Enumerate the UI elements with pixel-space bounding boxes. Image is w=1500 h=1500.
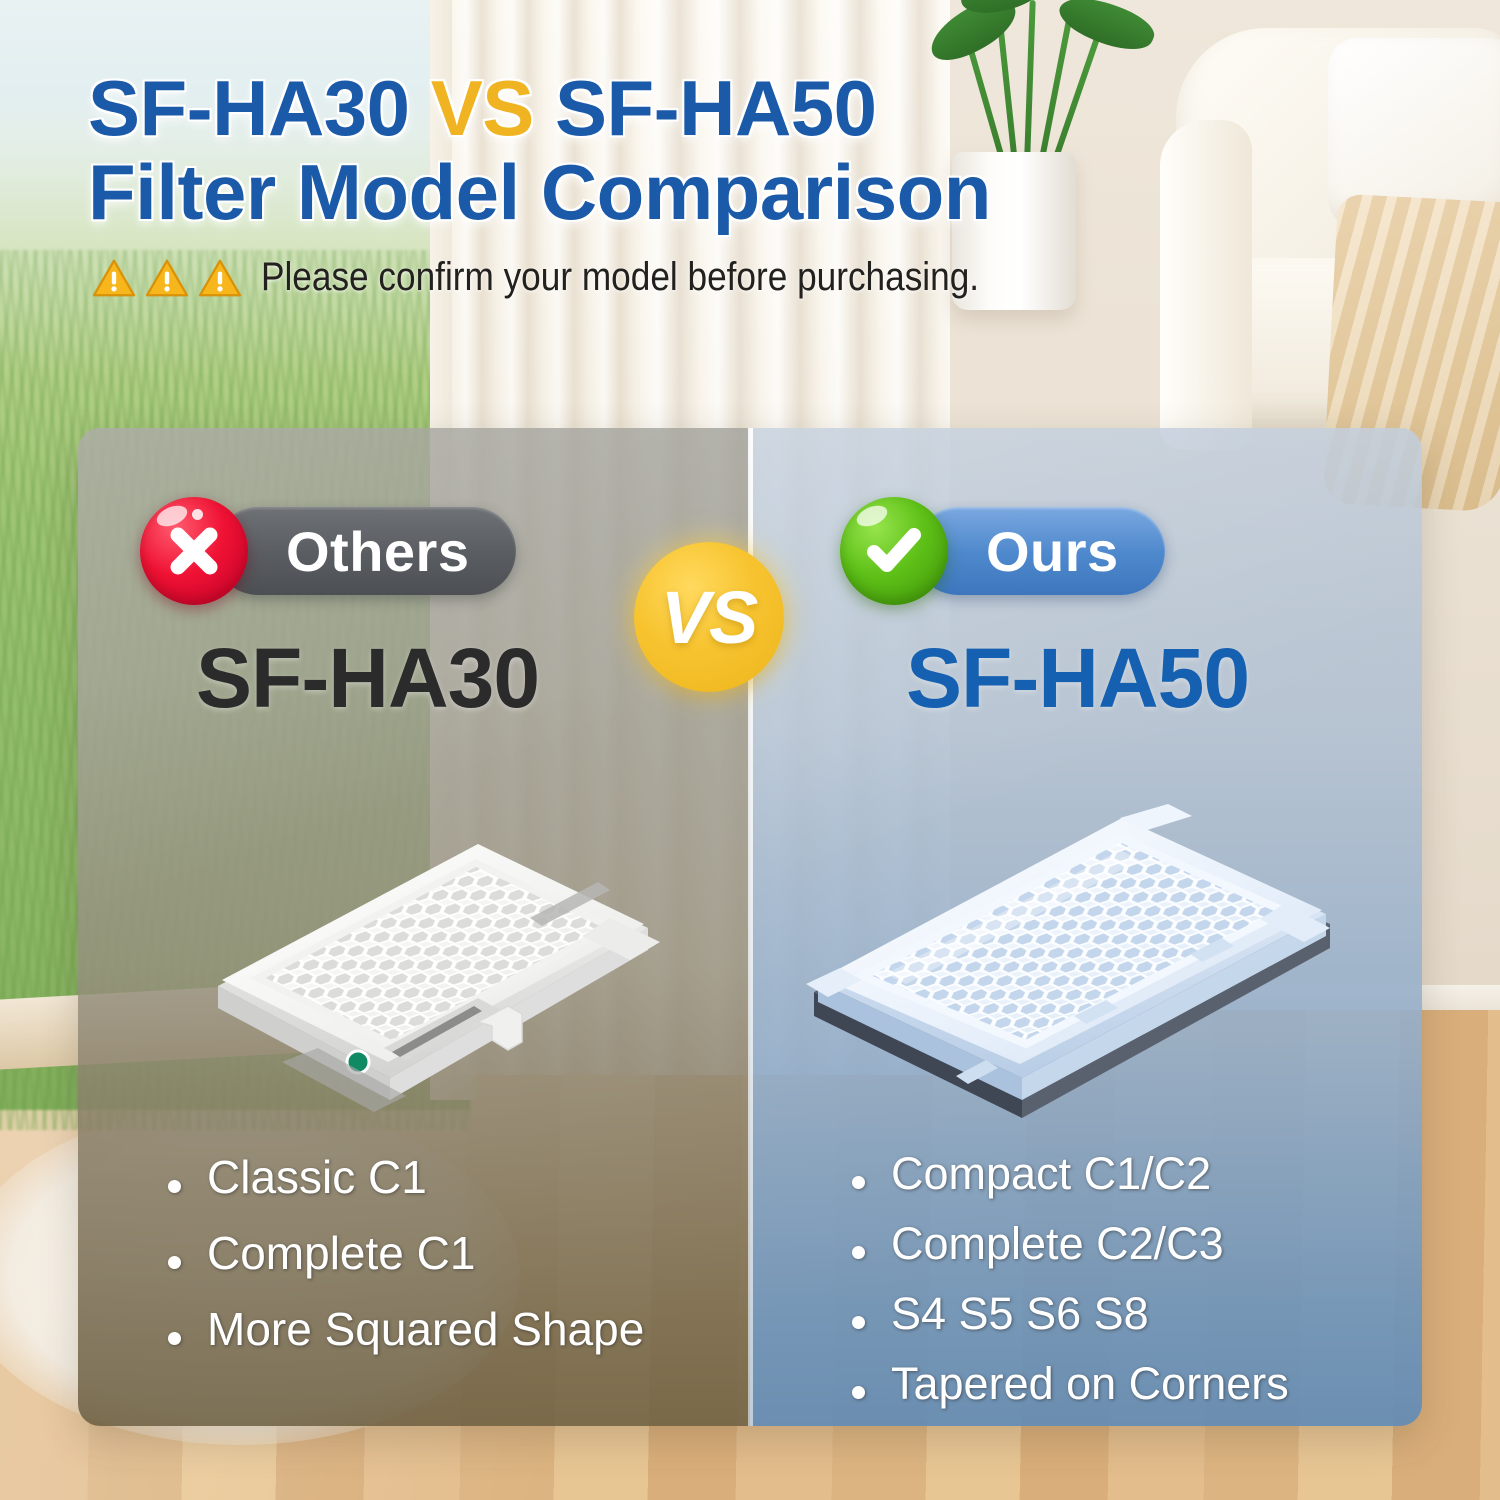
- bullet-dot-icon: [168, 1332, 181, 1345]
- product-image-sf-ha30: [178, 790, 668, 1120]
- list-item-label: S4 S5 S6 S8: [891, 1288, 1149, 1340]
- list-item-label: Classic C1: [207, 1150, 427, 1204]
- badge-others-label: Others: [214, 507, 516, 595]
- list-item-label: More Squared Shape: [207, 1302, 644, 1356]
- cross-mark-icon: [161, 518, 227, 584]
- list-item: Complete C1: [168, 1226, 644, 1280]
- warning-subtitle-text: Please confirm your model before purchas…: [261, 255, 979, 300]
- list-item: S4 S5 S6 S8: [852, 1288, 1289, 1340]
- headline-model-a: SF-HA30: [88, 64, 410, 152]
- list-item-label: Compact C1/C2: [891, 1148, 1211, 1200]
- badge-others: Others: [140, 497, 516, 605]
- warning-triangle-icon: [198, 258, 242, 298]
- list-item: Tapered on Corners: [852, 1358, 1289, 1410]
- warning-subtitle: Please confirm your model before purchas…: [92, 255, 1077, 300]
- vs-coin-label: VS: [661, 575, 758, 660]
- list-item-label: Complete C2/C3: [891, 1218, 1224, 1270]
- bullet-dot-icon: [852, 1386, 865, 1399]
- bullet-dot-icon: [852, 1176, 865, 1189]
- bullet-dot-icon: [168, 1256, 181, 1269]
- badge-ours-label: Ours: [914, 507, 1165, 595]
- headline-model-b: SF-HA50: [555, 64, 877, 152]
- bullet-list-ours: Compact C1/C2 Complete C2/C3 S4 S5 S6 S8…: [852, 1148, 1289, 1428]
- list-item-label: Tapered on Corners: [891, 1358, 1289, 1410]
- list-item: Compact C1/C2: [852, 1148, 1289, 1200]
- list-item-label: Complete C1: [207, 1226, 475, 1280]
- product-comparison-infographic: SF-HA30 VS SF-HA50 Filter Model Comparis…: [0, 0, 1500, 1500]
- warning-triangle-icon: [92, 258, 136, 298]
- list-item: Complete C2/C3: [852, 1218, 1289, 1270]
- bullet-dot-icon: [852, 1316, 865, 1329]
- headline-subtitle-line: Filter Model Comparison: [88, 150, 1178, 234]
- list-item: Classic C1: [168, 1150, 644, 1204]
- bullet-dot-icon: [852, 1246, 865, 1259]
- page-title: SF-HA30 VS SF-HA50 Filter Model Comparis…: [88, 66, 1178, 234]
- warning-triangle-icon: [145, 258, 189, 298]
- cross-circle-icon: [140, 497, 248, 605]
- bullet-list-others: Classic C1 Complete C1 More Squared Shap…: [168, 1150, 644, 1378]
- bullet-dot-icon: [168, 1180, 181, 1193]
- check-circle-icon: [840, 497, 948, 605]
- vs-coin-badge: VS: [634, 542, 784, 692]
- gloss-dot: [192, 509, 203, 520]
- badge-ours: Ours: [840, 497, 1165, 605]
- product-image-sf-ha50: [790, 778, 1350, 1138]
- model-title-others: SF-HA30: [196, 630, 539, 727]
- headline-vs: VS: [431, 64, 534, 152]
- list-item: More Squared Shape: [168, 1302, 644, 1356]
- model-title-ours: SF-HA50: [906, 630, 1249, 727]
